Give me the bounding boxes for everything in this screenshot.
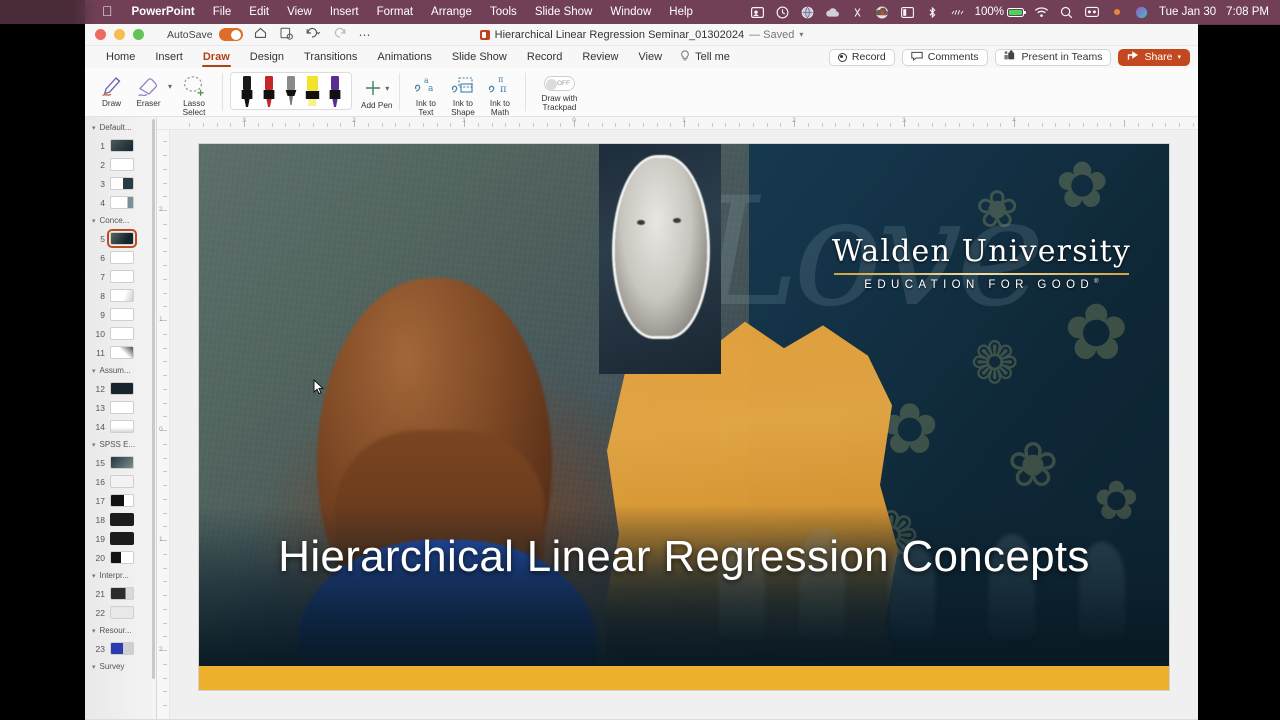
child-photo-cutout (615, 158, 707, 336)
list-item[interactable]: 3 (85, 174, 156, 193)
ruler-tick (890, 123, 891, 127)
slide-thumbnail[interactable] (110, 494, 134, 507)
chevron-down-icon[interactable]: ▾ (92, 217, 96, 225)
ruler-tick (822, 123, 823, 127)
svg-text:π: π (498, 75, 503, 84)
slide-canvas[interactable]: Love ✿ ❀ ✿ ❁ ✿ ❀ ❁ ✿ (170, 130, 1198, 719)
slide-thumbnail[interactable] (110, 196, 134, 209)
trackpad-switch[interactable]: OFF (544, 76, 575, 91)
slide-number: 2 (94, 160, 105, 170)
globe-icon[interactable] (795, 0, 820, 24)
ribbon-group-ink: aa Ink to Text Ink to Shape ππ Ink to Ma… (407, 71, 518, 117)
background-crowd-band (199, 506, 1169, 666)
ruler-tick (863, 123, 864, 127)
comments-label: Comments (928, 51, 979, 63)
powerpoint-file-icon (480, 30, 490, 40)
ruler-tick (163, 293, 167, 294)
ruler-tick (163, 279, 167, 280)
chevron-down-icon[interactable]: ▾ (92, 627, 96, 635)
ruler-tick (643, 123, 644, 127)
ruler-tick (918, 123, 919, 127)
bluetooth-icon[interactable] (920, 0, 945, 24)
ink-to-text-button[interactable]: aa Ink to Text (407, 71, 444, 117)
menu-insert[interactable]: Insert (321, 0, 368, 24)
ink-to-math-label: Ink to Math (481, 99, 518, 117)
search-icon[interactable] (1054, 0, 1079, 24)
list-item[interactable]: 1 (85, 136, 156, 155)
logo-tagline: EDUCATION FOR GOOD® (832, 279, 1131, 291)
ornament-icon: ✿ (1055, 154, 1109, 218)
tab-animations[interactable]: Animations (367, 46, 441, 68)
battery-icon (1007, 8, 1024, 17)
slide-thumbnail[interactable] (110, 158, 134, 171)
tab-review[interactable]: Review (572, 46, 628, 68)
ruler-tick (203, 123, 204, 127)
slide-thumbnail[interactable] (110, 401, 134, 414)
menu-arrange[interactable]: Arrange (422, 0, 481, 24)
clock-icon[interactable] (770, 0, 795, 24)
ruler-tick (1152, 123, 1153, 127)
ruler-tick (1193, 123, 1194, 127)
slide-thumbnail[interactable] (110, 308, 134, 321)
battery-percent-label: 100% (975, 6, 1004, 18)
editor-work-area: ▾ Default... 1 2 3 4 ▾ Conce... 5 6 7 8 … (85, 117, 1198, 719)
ruler-tick (163, 251, 167, 252)
slide-thumbnail[interactable] (110, 346, 134, 359)
slide-number: 1 (94, 141, 105, 151)
list-item[interactable]: 6 (85, 248, 156, 267)
chevron-down-icon[interactable]: ▾ (1177, 53, 1181, 61)
menu-view[interactable]: View (278, 0, 321, 24)
slide-number: 10 (94, 329, 105, 339)
ruler-tick (987, 123, 988, 127)
ruler-tick (1124, 120, 1125, 127)
slide-thumbnail[interactable] (110, 289, 134, 302)
section-header-spss[interactable]: ▾ SPSS E... (85, 436, 156, 453)
slide-number: 21 (94, 589, 105, 599)
ruler-label: 3 (242, 117, 246, 124)
ruler-tick (615, 123, 616, 127)
tab-record[interactable]: Record (517, 46, 572, 68)
ruler-tick (163, 348, 167, 349)
walden-university-logo: Walden University EDUCATION FOR GOOD® (832, 234, 1131, 291)
ribbon-divider (525, 73, 526, 111)
ruler-tick (382, 123, 383, 127)
ruler-tick (340, 123, 341, 127)
present-in-teams-button[interactable]: Present in Teams (995, 49, 1112, 66)
tab-draw[interactable]: Draw (193, 46, 240, 68)
ruler-tick (163, 609, 167, 610)
list-item[interactable]: 5 (85, 229, 156, 248)
lasso-select-button[interactable]: Lasso Select (173, 71, 215, 117)
ruler-tick (409, 123, 410, 127)
ruler-tick (670, 123, 671, 127)
svg-text:a: a (428, 84, 434, 94)
section-label: Survey (100, 662, 125, 671)
control-center-icon[interactable] (1079, 0, 1104, 24)
section-label: Conce... (100, 216, 130, 225)
ruler-tick (163, 568, 167, 569)
ruler-tick (808, 123, 809, 127)
wifi-icon[interactable] (1029, 0, 1054, 24)
menu-bar-date[interactable]: Tue Jan 30 (1154, 6, 1221, 18)
tab-home[interactable]: Home (96, 46, 145, 68)
ruler-tick (163, 513, 167, 514)
list-item[interactable]: 15 (85, 453, 156, 472)
ruler-tick (163, 403, 167, 404)
list-item[interactable]: 11 (85, 343, 156, 362)
slide-thumbnail-pane[interactable]: ▾ Default... 1 2 3 4 ▾ Conce... 5 6 7 8 … (85, 117, 157, 719)
screen-share-icon[interactable] (745, 0, 770, 24)
ruler-tick (753, 123, 754, 127)
ornament-icon: ✿ (1064, 294, 1129, 372)
ruler-tick (588, 123, 589, 127)
slide-thumbnail[interactable] (110, 177, 134, 190)
ruler-tick (437, 123, 438, 127)
list-item[interactable]: 10 (85, 324, 156, 343)
powerpoint-window: AutoSave ⋯ Hierarchica (85, 24, 1198, 720)
draw-ribbon: Draw Eraser ▾ Lasso Select (85, 68, 1198, 117)
ruler-tick (698, 123, 699, 127)
lasso-select-icon (181, 74, 207, 98)
ruler-tick (230, 123, 231, 127)
slide-thumbnail[interactable] (110, 532, 134, 545)
slide-number: 19 (94, 534, 105, 544)
svg-text:π: π (500, 84, 507, 95)
ruler-tick (1179, 123, 1180, 127)
menu-help[interactable]: Help (660, 0, 702, 24)
ruler-tick (163, 471, 167, 472)
document-save-state: — Saved (749, 29, 794, 41)
present-in-teams-label: Present in Teams (1022, 51, 1103, 63)
logo-tagline-text: EDUCATION FOR GOOD (864, 279, 1094, 291)
ruler-tick (602, 123, 603, 127)
slide-number: 4 (94, 198, 105, 208)
list-item[interactable]: 4 (85, 193, 156, 212)
ruler-tick (163, 196, 167, 197)
section-label: Interpr... (100, 571, 129, 580)
tab-view[interactable]: View (628, 46, 672, 68)
section-label: Default... (100, 123, 132, 132)
bluetooth-transfer-icon[interactable] (845, 0, 870, 24)
menu-tools[interactable]: Tools (481, 0, 526, 24)
slide-thumbnail[interactable] (110, 420, 134, 433)
slide-thumbnail[interactable] (110, 551, 134, 564)
list-item[interactable]: 21 (85, 584, 156, 603)
slide-number: 14 (94, 422, 105, 432)
ruler-tick (1165, 123, 1166, 127)
ink-to-math-button[interactable]: ππ Ink to Math (481, 71, 518, 117)
trackpad-switch-state: OFF (557, 79, 570, 88)
menu-window[interactable]: Window (601, 0, 660, 24)
record-button[interactable]: Record (829, 49, 895, 66)
tab-transitions[interactable]: Transitions (294, 46, 367, 68)
list-item[interactable]: 20 (85, 548, 156, 567)
slide-number: 13 (94, 403, 105, 413)
ornament-icon: ❀ (1007, 434, 1059, 496)
ruler-tick (163, 389, 167, 390)
ruler-tick (560, 123, 561, 127)
ink-to-text-icon: aa (413, 74, 439, 98)
ruler-tick (285, 123, 286, 127)
slide-number: 15 (94, 458, 105, 468)
ruler-tick (163, 691, 167, 692)
ink-to-math-icon: ππ (487, 74, 513, 98)
list-item[interactable]: 17 (85, 491, 156, 510)
slide-thumbnail[interactable] (110, 456, 134, 469)
ruler-tick (163, 141, 167, 142)
pencil-gray[interactable] (280, 75, 302, 108)
window-title-bar: AutoSave ⋯ Hierarchica (85, 24, 1198, 46)
ruler-tick (163, 375, 167, 376)
section-header-assumptions[interactable]: ▾ Assum... (85, 362, 156, 379)
record-icon (838, 53, 847, 62)
ruler-tick (1138, 123, 1139, 127)
split-view-icon[interactable] (895, 0, 920, 24)
slide-thumbnail[interactable] (110, 251, 134, 264)
section-header-concepts[interactable]: ▾ Conce... (85, 212, 156, 229)
chevron-down-icon[interactable]: ▾ (92, 367, 96, 375)
comment-icon (911, 51, 923, 64)
slide-thumbnail[interactable] (110, 587, 134, 600)
slide-number: 23 (94, 644, 105, 654)
siri-icon[interactable] (1129, 0, 1154, 24)
list-item[interactable]: 7 (85, 267, 156, 286)
ruler-tick (932, 123, 933, 127)
pen-red[interactable] (258, 75, 280, 108)
chevron-down-icon[interactable]: ▾ (92, 124, 96, 132)
ribbon-divider (222, 73, 223, 111)
ruler-tick (629, 123, 630, 127)
draw-with-trackpad-label: Draw with Trackpad (533, 94, 585, 112)
ruler-label: 1 (159, 316, 163, 323)
battery-status[interactable]: 100% (970, 6, 1029, 18)
eraser-tool-label: Eraser (136, 99, 160, 108)
list-item[interactable]: 2 (85, 155, 156, 174)
tab-design[interactable]: Design (240, 46, 294, 68)
section-header-interpretation[interactable]: ▾ Interpr... (85, 567, 156, 584)
chevron-down-icon[interactable]: ▾ (92, 663, 96, 671)
document-title[interactable]: Hierarchical Linear Regression Seminar_0… (85, 29, 1198, 41)
onedrive-icon[interactable] (870, 0, 895, 24)
ink-to-text-label: Ink to Text (407, 99, 444, 117)
slide-title[interactable]: Hierarchical Linear Regression Concepts (199, 532, 1169, 582)
list-item[interactable]: 23 (85, 639, 156, 658)
ruler-tick (450, 123, 451, 127)
list-item[interactable]: 19 (85, 529, 156, 548)
ruler-tick (163, 623, 167, 624)
mouse-cursor (313, 379, 324, 395)
desktop-left-edge (0, 0, 85, 720)
slide-thumbnail[interactable] (110, 382, 134, 395)
ruler-label: 1 (682, 117, 686, 124)
menu-bar-status-items: 100% Tue Jan 30 7:08 PM (745, 0, 1280, 24)
notification-dot-icon[interactable] (1104, 0, 1129, 24)
ruler-tick (973, 123, 974, 127)
list-item[interactable]: 22 (85, 603, 156, 622)
menu-slide-show[interactable]: Slide Show (526, 0, 602, 24)
ruler-tick (368, 123, 369, 127)
share-button[interactable]: Share ▾ (1118, 49, 1190, 66)
ruler-tick (163, 444, 167, 445)
menu-edit[interactable]: Edit (240, 0, 278, 24)
highlighter-yellow[interactable] (302, 75, 324, 108)
ruler-label: 2 (159, 206, 163, 213)
slide-thumbnail[interactable] (110, 513, 134, 526)
slide-thumbnail[interactable] (110, 139, 134, 152)
share-label: Share (1144, 51, 1172, 63)
logo-registered-mark: ® (1094, 279, 1098, 285)
section-header-default[interactable]: ▾ Default... (85, 119, 156, 136)
slide-number: 5 (94, 234, 105, 244)
thumbnail-scrollbar[interactable] (152, 119, 155, 679)
ruler-tick (1028, 123, 1029, 127)
horizontal-ruler: 32101234 (157, 117, 1198, 130)
ruler-tick (1069, 123, 1070, 127)
slide-thumbnail[interactable] (110, 475, 134, 488)
slide-thumbnail[interactable] (110, 606, 134, 619)
ruler-tick (505, 123, 506, 127)
slide-number: 11 (94, 348, 105, 358)
ruler-tick (163, 334, 167, 335)
slide-number: 6 (94, 253, 105, 263)
ruler-tick (959, 123, 960, 127)
slide-number: 8 (94, 291, 105, 301)
ruler-tick (163, 705, 167, 706)
ruler-label: 4 (1012, 117, 1016, 124)
slide-editing-surface[interactable]: Love ✿ ❀ ✿ ❁ ✿ ❀ ❁ ✿ (199, 144, 1169, 690)
ruler-tick (163, 265, 167, 266)
ruler-tick (739, 123, 740, 127)
ink-to-shape-label: Ink to Shape (444, 99, 481, 117)
tab-insert[interactable]: Insert (145, 46, 193, 68)
cloud-icon[interactable] (820, 0, 845, 24)
chevron-down-icon[interactable]: ▾ (799, 30, 803, 39)
slide-thumbnail[interactable] (110, 642, 134, 655)
sound-icon[interactable] (945, 0, 970, 24)
ruler-tick (163, 183, 167, 184)
pen-black[interactable] (236, 75, 258, 108)
chevron-down-icon[interactable]: ▾ (385, 84, 389, 93)
ruler-tick (163, 554, 167, 555)
slide-thumbnail-selected[interactable] (110, 232, 134, 245)
slide-gold-bar (199, 666, 1169, 690)
slide-number: 18 (94, 515, 105, 525)
list-item[interactable]: 8 (85, 286, 156, 305)
pen-purple[interactable] (324, 75, 346, 108)
ruler-tick (163, 581, 167, 582)
list-item[interactable]: 9 (85, 305, 156, 324)
ribbon-divider (399, 73, 400, 111)
ornament-icon: ❀ (975, 184, 1019, 236)
ribbon-group-tools: Draw Eraser ▾ Lasso Select (93, 71, 215, 117)
ruler-label: 2 (792, 117, 796, 124)
ruler-label: 0 (159, 426, 163, 433)
screen:  PowerPoint File Edit View Insert Forma… (0, 0, 1280, 720)
chevron-down-icon[interactable]: ▾ (92, 441, 96, 449)
ruler-tick (1110, 123, 1111, 127)
slide-number: 9 (94, 310, 105, 320)
ruler-tick (725, 123, 726, 127)
ruler-tick (313, 123, 314, 127)
list-item[interactable]: 16 (85, 472, 156, 491)
ruler-tick (272, 123, 273, 127)
draw-tool-button[interactable]: Draw (93, 71, 130, 108)
section-label: SPSS E... (100, 440, 136, 449)
slide-thumbnail[interactable] (110, 327, 134, 340)
vertical-ruler: 21012 (157, 130, 170, 719)
list-item[interactable]: 18 (85, 510, 156, 529)
ruler-tick (217, 123, 218, 127)
eraser-tool-button[interactable]: Eraser (130, 71, 167, 108)
ruler-label: 3 (902, 117, 906, 124)
ruler-label: 1 (159, 536, 163, 543)
record-label: Record (852, 51, 886, 63)
ruler-label: 1 (462, 117, 466, 124)
ruler-tick (163, 224, 167, 225)
teams-icon (1004, 50, 1017, 64)
ruler-label: 2 (352, 117, 356, 124)
ruler-label: 0 (572, 117, 576, 124)
list-item[interactable]: 14 (85, 417, 156, 436)
ruler-tick (163, 499, 167, 500)
slide-number: 22 (94, 608, 105, 618)
logo-name: Walden University (832, 234, 1131, 269)
draw-with-trackpad-toggle[interactable]: OFF Draw with Trackpad (533, 71, 585, 112)
slide-number: 7 (94, 272, 105, 282)
chevron-down-icon[interactable]: ▾ (92, 572, 96, 580)
slide-number: 20 (94, 553, 105, 563)
slide-number: 3 (94, 179, 105, 189)
ink-to-shape-button[interactable]: Ink to Shape (444, 71, 481, 117)
ruler-tick (1042, 123, 1043, 127)
ruler-tick (492, 123, 493, 127)
section-header-survey[interactable]: ▾ Survey (85, 658, 156, 675)
ruler-tick (657, 123, 658, 127)
ruler-tick (163, 678, 167, 679)
menu-format[interactable]: Format (368, 0, 422, 24)
apple-menu-icon[interactable]:  (92, 0, 123, 25)
tell-me-search[interactable]: Tell me (672, 46, 730, 68)
add-pen-button[interactable]: ▾ Add Pen (361, 71, 392, 110)
tab-slide-show[interactable]: Slide Show (442, 46, 517, 68)
ruler-tick (163, 595, 167, 596)
ruler-tick (835, 123, 836, 127)
ruler-tick (258, 123, 259, 127)
list-item[interactable]: 13 (85, 398, 156, 417)
ruler-tick (395, 123, 396, 127)
eraser-icon (136, 74, 162, 98)
ruler-tick (163, 526, 167, 527)
ruler-tick (163, 155, 167, 156)
comments-button[interactable]: Comments (902, 49, 988, 66)
logo-rule (834, 273, 1129, 275)
slide-number: 16 (94, 477, 105, 487)
menu-bar-time[interactable]: 7:08 PM (1221, 6, 1274, 18)
pen-draw-icon (100, 74, 124, 98)
section-label: Assum... (100, 366, 131, 375)
ruler-tick (163, 664, 167, 665)
ruler-tick (547, 123, 548, 127)
plus-icon (364, 79, 382, 97)
list-item[interactable]: 12 (85, 379, 156, 398)
ruler-label: 2 (159, 646, 163, 653)
slide-thumbnail[interactable] (110, 270, 134, 283)
ruler-tick (945, 123, 946, 127)
menu-powerpoint[interactable]: PowerPoint (123, 0, 204, 24)
menu-file[interactable]: File (204, 0, 241, 24)
section-header-resources[interactable]: ▾ Resour... (85, 622, 156, 639)
